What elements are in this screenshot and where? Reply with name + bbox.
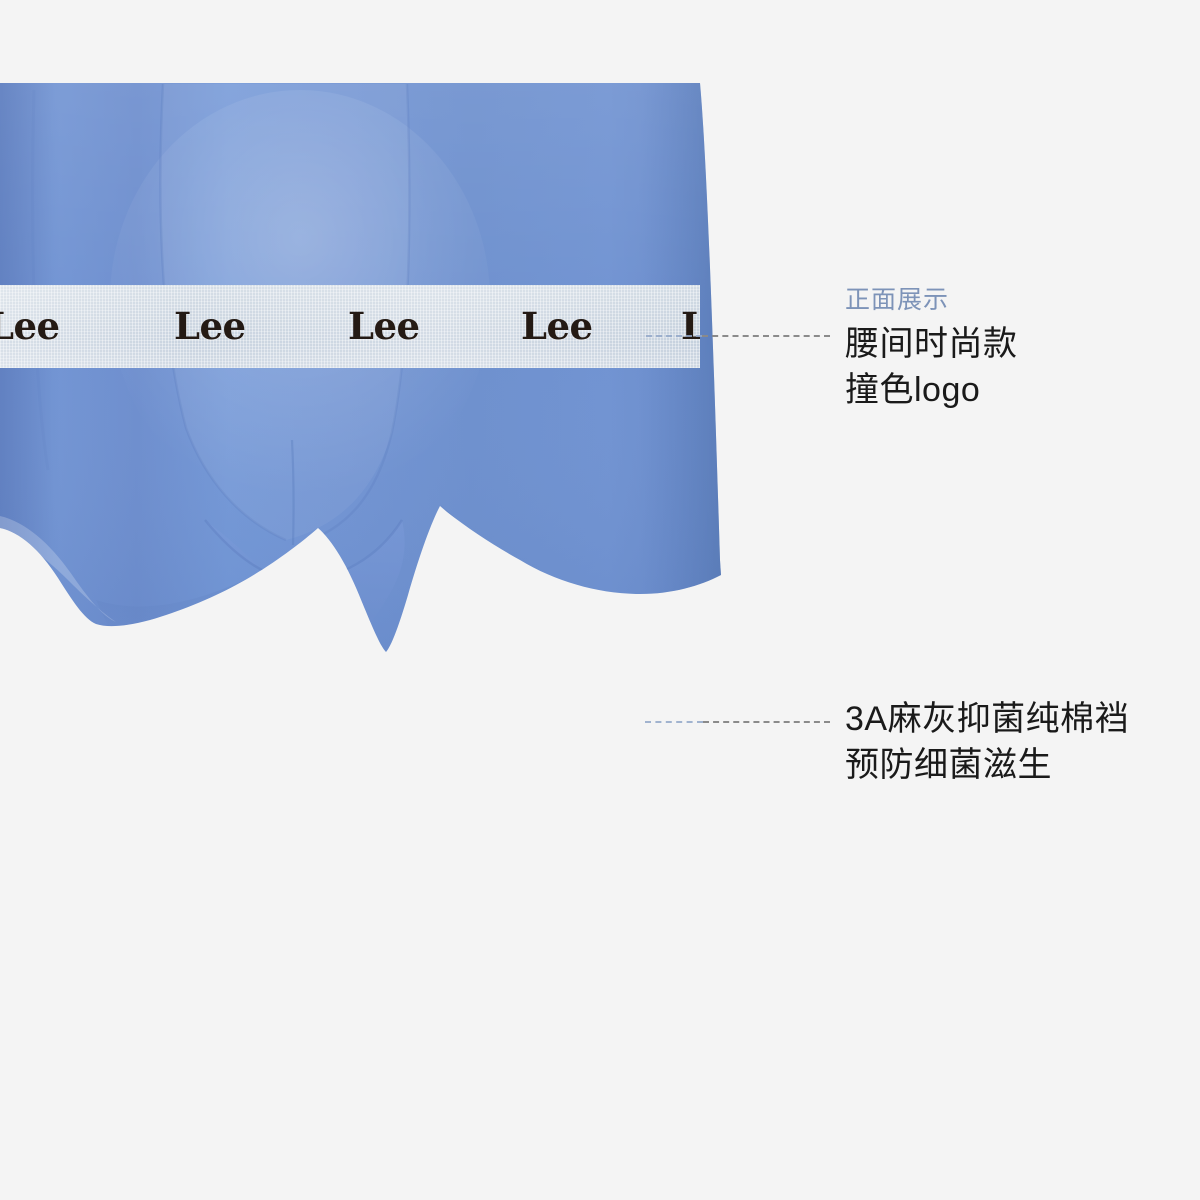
annotation-line: 撞色logo [845,367,1018,413]
product-photo [0,0,760,960]
annotation-waistband: 正面展示 腰间时尚款 撞色logo [845,284,1018,413]
leader-gusset [703,721,830,723]
lee-logo: Lee [0,307,60,345]
leader-waistband-inner [646,335,702,337]
leader-gusset-inner [645,721,703,723]
annotation-line: 3A麻灰抑菌纯棉裆 [845,696,1129,742]
lee-logo: Lee [681,307,700,345]
lee-logo: Lee [348,307,420,345]
leader-waistband [702,335,830,337]
garment-body [0,70,760,670]
boxer-brief-illustration [0,0,760,960]
annotation-line: 预防细菌滋生 [845,742,1129,788]
annotation-gusset: 3A麻灰抑菌纯棉裆 预防细菌滋生 [845,696,1129,788]
waistband: Lee Lee Lee Lee Lee [0,285,700,368]
lee-logo: Lee [521,307,593,345]
lee-logo: Lee [174,307,246,345]
annotation-line: 腰间时尚款 [845,321,1018,367]
product-detail-canvas: Lee Lee Lee Lee Lee 正面展示 腰间时尚款 撞色logo 3A… [0,0,1200,1200]
annotation-kicker: 正面展示 [845,284,1018,316]
